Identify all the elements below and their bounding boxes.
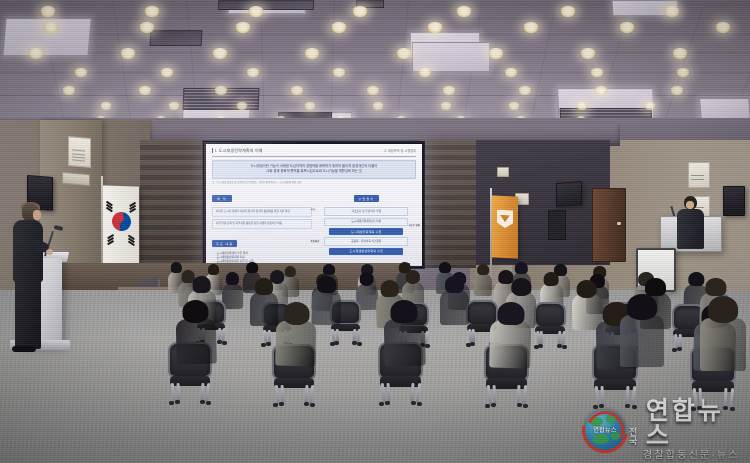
audience-torso [700, 318, 746, 371]
wall-notice-left [62, 172, 90, 186]
chair-leg [626, 386, 630, 405]
chair-caster [169, 401, 174, 405]
audience-head [406, 272, 419, 284]
audience-head [446, 278, 463, 293]
ceiling-downlight [590, 68, 604, 77]
ceiling-vent [150, 30, 203, 46]
audience-head [381, 282, 398, 297]
chair-caster [357, 342, 362, 346]
slide-tag-contents: 주요 내용 [212, 240, 237, 247]
audience-member [489, 301, 532, 365]
chair-caster [697, 406, 702, 410]
chair-leg [353, 329, 356, 342]
chair-leg [557, 331, 560, 344]
institution-emblem-icon [497, 210, 513, 229]
slide-tag-procedure: 수립절차 [354, 195, 379, 202]
ceiling-downlight [120, 48, 136, 59]
ceiling-downlight [488, 48, 504, 59]
chair-leg [678, 334, 681, 348]
audience-head [256, 280, 272, 295]
watermark-subtitle: 경찰합동신문·뉴스 [629, 451, 745, 461]
ceiling-downlight [664, 6, 680, 17]
audience-head [544, 274, 558, 287]
ceiling-downlight [304, 102, 316, 110]
taeguk-symbol [108, 208, 134, 234]
chair-caster [485, 404, 490, 408]
audience-member [474, 264, 493, 295]
chair-caster [411, 401, 416, 405]
slide-tag-purpose: 목 적 [212, 195, 232, 202]
audience-torso [440, 290, 469, 325]
ceiling-downlight [144, 6, 160, 17]
flow-step-4: 공청회 · 지방의회 의견청취 [324, 237, 408, 246]
flow-step-3: 도시재생전략계획 수립 [329, 228, 403, 235]
chair-caster [425, 344, 430, 348]
chair-leg [411, 383, 415, 402]
chair-caster [222, 341, 227, 345]
slide-definition-banner: 도시재생이란 기능이 쇠퇴한 도심지역의 경쟁력을 회복하기 위하여 물리적 환… [212, 160, 416, 179]
chair-caster [562, 345, 567, 349]
chair-caster [491, 403, 496, 407]
institution-flag [492, 195, 518, 258]
slide-breadcrumb: 3. 제정목적 및 시행경위 [384, 148, 416, 153]
slide-purpose-item-1: 쇠퇴한 도시의 경제적·사회적·물리적·환경적 활성화를 위한 기반 마련 [212, 207, 312, 217]
ceiling-downlight [331, 22, 347, 33]
banner-line-1: 도시재생이란 기능이 쇠퇴한 도심지역의 경쟁력을 회복하기 위하여 물리적 환… [217, 164, 411, 168]
ceiling-downlight [236, 102, 248, 110]
ceiling-downlight [332, 68, 346, 77]
audience-torso [489, 320, 531, 368]
ceiling-seam-h [0, 52, 750, 53]
wall-emblem-right-2 [497, 167, 509, 177]
ceiling-seam-h [0, 72, 750, 73]
audience-head [226, 274, 238, 286]
audience-torso [474, 273, 492, 296]
presentation-slide: Ⅰ. 도시재생전략계획의 이해 3. 제정목적 및 시행경위 도시재생이란 기능… [206, 144, 422, 266]
audience-head [629, 298, 655, 320]
audience-head [184, 303, 208, 323]
audience-member [175, 299, 217, 362]
ceiling-downlight [168, 102, 180, 110]
ceiling-downlight [40, 6, 56, 17]
ceiling-downlight [644, 102, 656, 110]
ceiling-downlight [235, 22, 251, 33]
audience-head [209, 266, 219, 276]
ceiling-downlight [246, 68, 260, 77]
auditorium-photo: Ⅰ. 도시재생전략계획의 이해 3. 제정목적 및 시행경위 도시재생이란 기능… [0, 0, 750, 463]
slide-body: 목 적 쇠퇴한 도시의 경제적·사회적·물리적·환경적 활성화를 위한 기반 마… [212, 187, 416, 269]
ceiling [0, 0, 750, 133]
ceiling-seam-h [0, 34, 750, 35]
audience-head [707, 280, 725, 296]
flow-side-label-3: 국토부 협의 [408, 223, 420, 227]
ceiling-downlight [576, 102, 588, 110]
av-operator-torso [677, 209, 704, 249]
slide-left-column: 목 적 쇠퇴한 도시의 경제적·사회적·물리적·환경적 활성화를 위한 기반 마… [212, 187, 312, 269]
audience-head [578, 282, 596, 298]
ceiling-downlight [508, 102, 520, 110]
audience-head [247, 263, 258, 273]
chair-caster [304, 402, 309, 406]
av-operator-face [686, 201, 694, 209]
stage-wall-panel-right [420, 140, 476, 268]
projection-screen: Ⅰ. 도시재생전략계획의 이해 3. 제정목적 및 시행경위 도시재생이란 기능… [203, 141, 425, 269]
ceiling-downlight [304, 48, 320, 59]
ceiling-downlight [672, 48, 688, 59]
ceiling-downlight [580, 48, 596, 59]
globe-icon: 연합뉴스 [585, 410, 625, 450]
ceiling-downlight [456, 6, 472, 17]
audience-torso [250, 292, 278, 326]
stage-wall-panel-left [140, 140, 202, 268]
chair-backrest [534, 302, 566, 328]
chair-caster [517, 403, 522, 407]
presenter-legs [15, 279, 41, 349]
chair-caster [379, 402, 384, 406]
slide-title-text: Ⅰ. 도시재생전략계획의 이해 [215, 148, 263, 153]
watermark-prefix: 전국 [629, 428, 644, 449]
ceiling-downlight [396, 48, 412, 59]
chair-caster [200, 400, 205, 404]
audience-torso [620, 315, 664, 367]
ceiling-downlight [74, 68, 88, 77]
chair-leg [304, 385, 308, 403]
wall-speaker-far-right [723, 186, 745, 216]
ceiling-vent [218, 0, 314, 10]
chair-caster [599, 404, 604, 408]
audience-chair [534, 302, 566, 344]
ceiling-downlight [212, 48, 228, 59]
wall-poster-far-right [688, 162, 710, 188]
flow-step-2: 도시재생전략계획(안) 작성 [324, 218, 408, 227]
audience-torso [384, 318, 426, 366]
slide-header: Ⅰ. 도시재생전략계획의 이해 3. 제정목적 및 시행경위 [212, 148, 416, 157]
chair-caster [352, 341, 357, 345]
chair-caster [385, 401, 390, 405]
audience-member [620, 294, 664, 364]
ceiling-downlight [100, 102, 112, 110]
ceiling-downlight [43, 22, 59, 33]
news-watermark: 연합뉴스 전국 연합뉴스 경찰합동신문·뉴스 [585, 404, 745, 456]
audience-member [275, 301, 317, 364]
audience-head [392, 303, 416, 324]
chair-caster [273, 403, 278, 407]
banner-line-2: 사회·경제·문화적 활력을 회복시킴으로써 도시기능을 재활성화 하는 것 [217, 169, 411, 173]
audience-torso [176, 318, 217, 365]
chair-caster [175, 400, 180, 404]
audience-head [285, 305, 309, 325]
audience-member [440, 276, 469, 323]
chair-caster [266, 342, 271, 346]
audience-head [360, 274, 373, 286]
ceiling-downlight [504, 68, 518, 77]
chair-caster [677, 347, 682, 351]
audience-head [193, 278, 210, 293]
flow-side-label-2: 주민의견 [311, 239, 320, 243]
chair-caster [538, 344, 543, 348]
wall-poster-left [68, 136, 91, 168]
ceiling-downlight [676, 68, 690, 77]
ceiling-downlight [418, 68, 432, 77]
slide-banner-note: ※ 「도시재생 활성화 및 지원에 관한 특별법」 제2조제1항제1호 — 도시… [212, 181, 416, 184]
chair-caster [672, 348, 677, 352]
chair-caster [217, 340, 222, 344]
flow-side-label-1: 시·도 [311, 207, 316, 211]
ceiling-downlight [560, 6, 576, 17]
chair-caster [279, 402, 284, 406]
ceiling-downlight [160, 68, 174, 77]
audience-head [499, 305, 523, 326]
audience-torso [275, 320, 316, 367]
ceiling-downlight [619, 22, 635, 33]
audience-member [383, 299, 426, 363]
audience-head [512, 280, 530, 296]
presenter-hand [46, 249, 53, 255]
flow-step-5: 도시재생활성화계획 수립 [329, 248, 403, 255]
ceiling-downlight [352, 6, 368, 17]
av-operator-person [676, 196, 706, 254]
ceiling-downlight [715, 22, 731, 33]
ceiling-downlight [28, 48, 44, 59]
ceiling-downlight [523, 22, 539, 33]
wall-frame-right [548, 210, 566, 240]
chair-leg [200, 383, 204, 401]
wall-speaker-right [556, 181, 582, 207]
flow-step-1: 기초조사 및 주민의견 수렴 [324, 207, 408, 216]
ceiling-downlight [248, 6, 264, 17]
korean-national-flag [103, 185, 139, 264]
chair-leg [517, 385, 521, 404]
presenter-person [6, 203, 50, 353]
ceiling-downlight [139, 22, 155, 33]
chair-caster [557, 344, 562, 348]
audience-member [700, 296, 746, 368]
audience-head [318, 278, 335, 293]
slide-right-column: 수립절차 기초조사 및 주민의견 수렴 도시재생전략계획(안) 작성 도시재생전… [317, 187, 417, 269]
slide-title: Ⅰ. 도시재생전략계획의 이해 [212, 148, 263, 154]
audience-head [710, 300, 737, 323]
chair-leg [724, 388, 728, 407]
presenter-face [33, 210, 41, 220]
ceiling-downlight [427, 22, 443, 33]
audience-member [250, 278, 278, 324]
chair-caster [334, 341, 339, 345]
chair-leg [221, 328, 225, 342]
chair-caster [470, 342, 475, 346]
slide-purpose-item-2: 지역 역량 강화 및 지역자원 활용을 통한 자생적 성장기반 확충 [212, 219, 312, 229]
ceiling-seam-h [0, 18, 750, 19]
globe-label: 연합뉴스 [587, 425, 623, 434]
ceiling-downlight [440, 102, 452, 110]
wooden-door-right[interactable] [592, 188, 626, 262]
presenter-shoes [12, 346, 36, 352]
ceiling-downlight [372, 102, 384, 110]
